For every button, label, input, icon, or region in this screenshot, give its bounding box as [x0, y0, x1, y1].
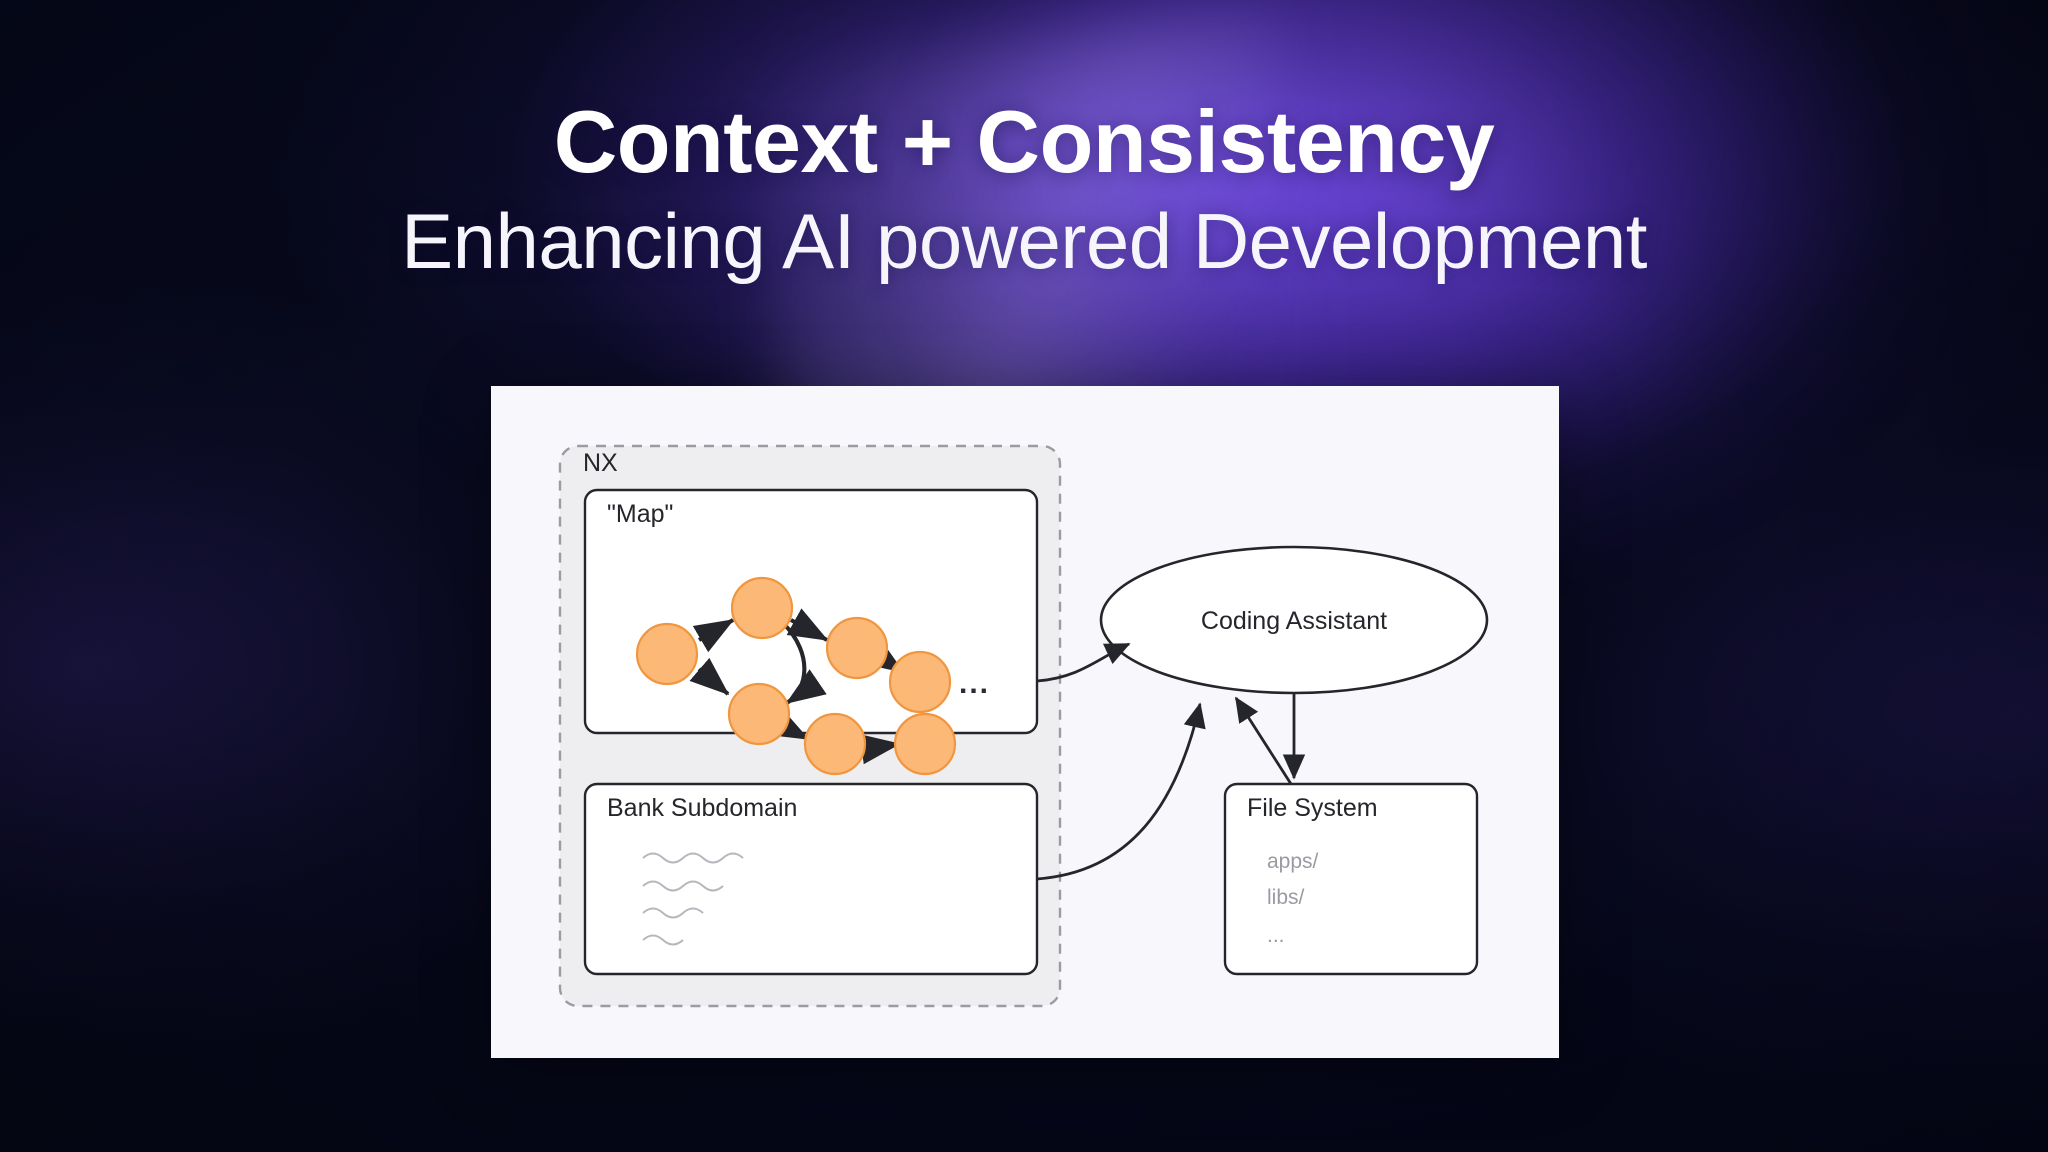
file-system-entry: apps/ — [1267, 850, 1319, 873]
map-panel-label: "Map" — [607, 500, 673, 528]
page-subtitle: Enhancing AI powered Development — [0, 198, 2048, 285]
file-system-label: File System — [1247, 794, 1378, 822]
file-system-entry: ... — [1267, 924, 1285, 947]
nx-group-label: NX — [583, 449, 618, 477]
connector-filesystem-to-assistant — [1236, 698, 1291, 784]
page-title: Context + Consistency — [0, 96, 2048, 188]
connector-bank-to-assistant — [1037, 704, 1200, 879]
graph-node — [805, 714, 865, 774]
file-system-panel: File System apps/ libs/ ... — [1225, 784, 1477, 974]
graph-node — [729, 684, 789, 744]
graph-node — [637, 624, 697, 684]
heading-block: Context + Consistency Enhancing AI power… — [0, 96, 2048, 286]
diagram-card: NX "Map" — [491, 386, 1559, 1058]
file-system-entry: libs/ — [1267, 886, 1305, 909]
architecture-diagram: NX "Map" — [491, 386, 1559, 1058]
map-panel: "Map" — [585, 490, 1037, 774]
bank-panel-label: Bank Subdomain — [607, 794, 797, 822]
bank-subdomain-panel: Bank Subdomain — [585, 784, 1037, 974]
assistant-label: Coding Assistant — [1201, 607, 1387, 635]
graph-node — [890, 652, 950, 712]
graph-ellipsis: ... — [959, 667, 990, 700]
coding-assistant-node: Coding Assistant — [1101, 547, 1487, 693]
slide-canvas: Context + Consistency Enhancing AI power… — [0, 0, 2048, 1152]
graph-node — [895, 714, 955, 774]
graph-node — [827, 618, 887, 678]
graph-node — [732, 578, 792, 638]
